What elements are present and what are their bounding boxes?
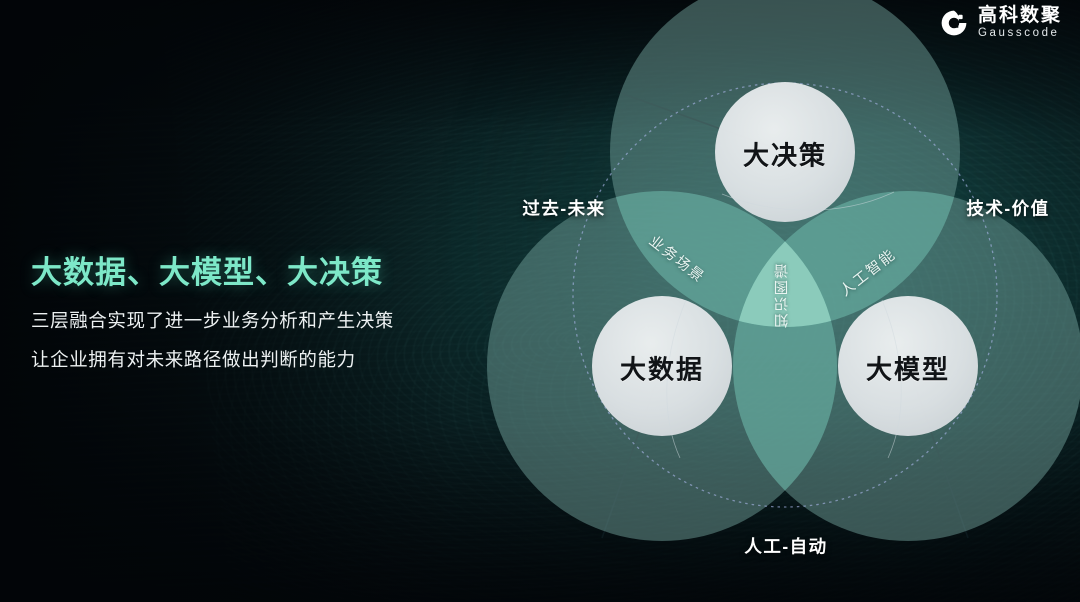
axis-label-tech-value: 技术-价值 — [966, 196, 1049, 221]
venn-diagram: 大决策 大数据 大模型 业务场景 人工智能 知识图谱 过去-未来 技术-价值 人… — [490, 18, 1060, 584]
left-text-block: 大数据、大模型、大决策 三层融合实现了进一步业务分析和产生决策 让企业拥有对未来… — [31, 255, 491, 371]
slide-canvas: 高科数聚 Gausscode 大数据、大模型、大决策 三层融合实现了进一步业务分… — [0, 0, 1080, 602]
subtitle-line-2: 让企业拥有对未来路径做出判断的能力 — [31, 348, 491, 371]
venn-label-bigdata: 大数据 — [620, 350, 704, 387]
venn-label-decision: 大决策 — [743, 136, 827, 173]
venn-label-bigmodel: 大模型 — [866, 350, 950, 387]
axis-label-manual-auto: 人工-自动 — [744, 534, 827, 559]
subtitle-line-1: 三层融合实现了进一步业务分析和产生决策 — [31, 309, 491, 332]
venn-overlap-label-knowledge-graph: 知识图谱 — [772, 262, 793, 328]
page-title: 大数据、大模型、大决策 — [31, 255, 491, 291]
axis-label-past-future: 过去-未来 — [522, 196, 605, 221]
